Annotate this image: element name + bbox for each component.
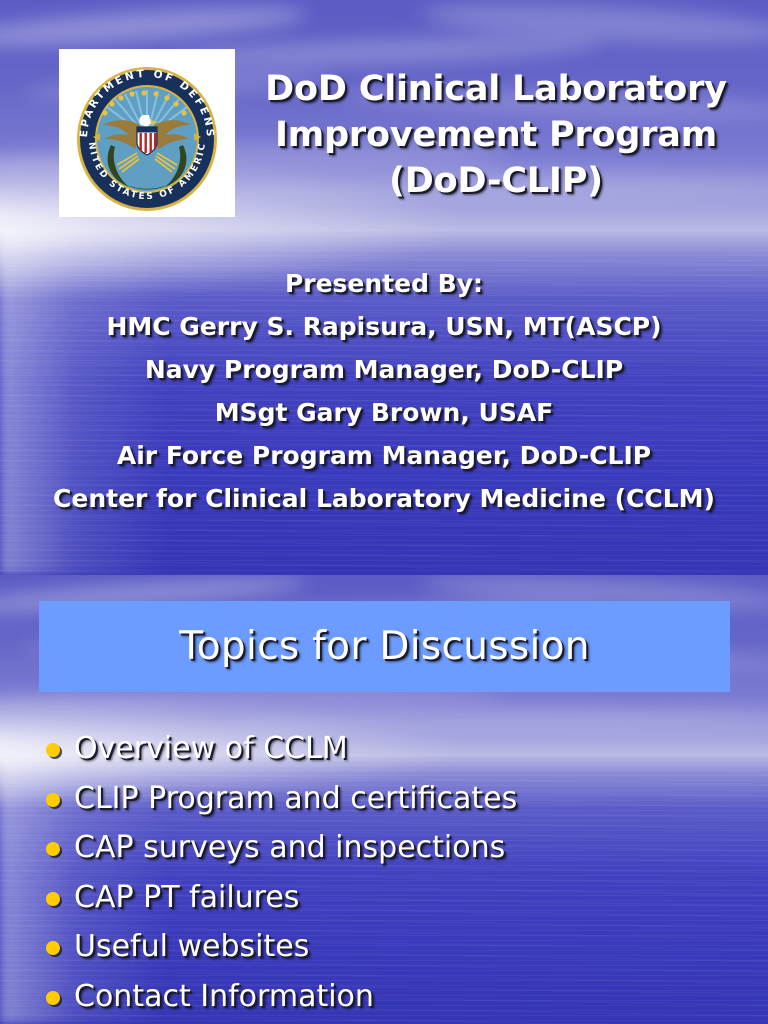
presenter-line-2: HMC Gerry S. Rapisura, USN, MT(ASCP) xyxy=(0,305,768,348)
topics-title: Topics for Discussion xyxy=(179,624,590,669)
presenter-line-1: Presented By: xyxy=(0,262,768,305)
bullet-label: Overview of CCLM xyxy=(74,731,348,768)
topics-title-box: Topics for Discussion xyxy=(39,601,730,692)
bullet-label: CLIP Program and certificates xyxy=(74,781,517,818)
presenter-line-6: Center for Clinical Laboratory Medicine … xyxy=(0,477,768,520)
bullet-label: Useful websites xyxy=(74,929,309,966)
list-item: Useful websites xyxy=(40,929,748,966)
bullet-label: CAP PT failures xyxy=(74,880,299,917)
presenter-line-4: MSgt Gary Brown, USAF xyxy=(0,391,768,434)
presenter-line-3: Navy Program Manager, DoD-CLIP xyxy=(0,348,768,391)
list-item: CAP PT failures xyxy=(40,880,748,917)
bullet-dot-icon xyxy=(46,941,60,955)
bullet-dot-icon xyxy=(46,842,60,856)
slide-title: DEPARTMENT OF DEFENSE UNITED STATES OF A… xyxy=(0,0,768,575)
topics-bullet-list: Overview of CCLM CLIP Program and certif… xyxy=(40,731,748,1024)
presentation-deck: DEPARTMENT OF DEFENSE UNITED STATES OF A… xyxy=(0,0,768,1024)
bullet-dot-icon xyxy=(46,892,60,906)
bullet-dot-icon xyxy=(46,743,60,757)
bullet-dot-icon xyxy=(46,793,60,807)
title-line-2: Improvement Program xyxy=(236,112,756,158)
bullet-label: Contact Information xyxy=(74,979,374,1016)
title-line-3: (DoD-CLIP) xyxy=(236,158,756,204)
bullet-label: CAP surveys and inspections xyxy=(74,830,505,867)
list-item: CAP surveys and inspections xyxy=(40,830,748,867)
slide-topics: Topics for Discussion Overview of CCLM C… xyxy=(0,575,768,1024)
dod-seal-icon: DEPARTMENT OF DEFENSE UNITED STATES OF A… xyxy=(59,49,235,217)
title-line-1: DoD Clinical Laboratory xyxy=(236,66,756,112)
bullet-dot-icon xyxy=(46,991,60,1005)
list-item: Contact Information xyxy=(40,979,748,1016)
presenter-line-5: Air Force Program Manager, DoD-CLIP xyxy=(0,434,768,477)
list-item: CLIP Program and certificates xyxy=(40,781,748,818)
list-item: Overview of CCLM xyxy=(40,731,748,768)
presenter-block: Presented By: HMC Gerry S. Rapisura, USN… xyxy=(0,262,768,520)
slide-title-block: DoD Clinical Laboratory Improvement Prog… xyxy=(236,66,756,205)
